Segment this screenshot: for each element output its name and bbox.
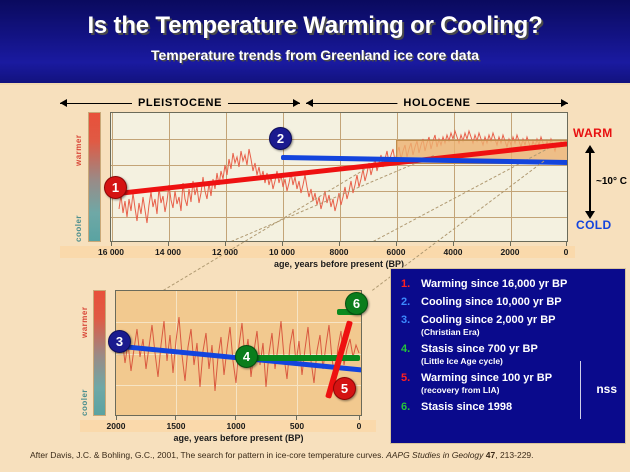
- upper-plot-area: [110, 112, 568, 242]
- legend-item-6[interactable]: 6. Stasis since 1998: [401, 401, 617, 414]
- legend-subtext: (recovery from LIA): [421, 385, 617, 396]
- warm-label: WARM: [573, 126, 613, 140]
- citation-pages: , 213-229.: [495, 450, 533, 460]
- legend-text: Stasis since 1998: [421, 401, 617, 414]
- legend-text: Warming since 16,000 yr BP: [421, 278, 617, 291]
- nss-bracket: [580, 361, 582, 419]
- citation: After Davis, J.C. & Bohling, G.C., 2001,…: [30, 450, 610, 460]
- ice-core-temperature-curve: [111, 113, 568, 242]
- legend-panel: 1. Warming since 16,000 yr BP 2. Cooling…: [390, 268, 626, 444]
- arrow-right-icon: [293, 99, 300, 107]
- gradient-warmer-label: warmer: [80, 290, 89, 338]
- arrow-left-icon: [306, 99, 313, 107]
- legend-number: 1.: [401, 278, 417, 290]
- legend-number: 5.: [401, 372, 417, 384]
- gradient-warmer-label: warmer: [74, 112, 83, 166]
- gradient-cooler-label: cooler: [74, 192, 83, 242]
- arrow-down-icon: [585, 211, 595, 219]
- citation-volume: 47: [483, 450, 495, 460]
- lower-axis-title: age, years before present (BP): [115, 433, 362, 443]
- epoch-pleistocene: PLEISTOCENE: [60, 94, 300, 114]
- page-title: Is the Temperature Warming or Cooling?: [0, 12, 630, 40]
- temperature-gradient-bar: [88, 112, 101, 242]
- temperature-gradient-bar: [93, 290, 106, 416]
- legend-item-5[interactable]: 5. Warming since 100 yr BP (recovery fro…: [401, 372, 617, 396]
- epoch-label: HOLOCENE: [397, 94, 476, 112]
- legend-text: Cooling since 2,000 yr BP: [421, 314, 617, 327]
- legend-subtext: (Little Ice Age cycle): [421, 356, 617, 367]
- gradient-cooler-label: cooler: [80, 372, 89, 416]
- legend-item-3[interactable]: 3. Cooling since 2,000 yr BP (Christian …: [401, 314, 617, 338]
- legend-number: 3.: [401, 314, 417, 326]
- marker-1[interactable]: 1: [104, 176, 127, 199]
- nss-label: nss: [596, 382, 617, 396]
- marker-5[interactable]: 5: [333, 377, 356, 400]
- citation-journal: AAPG Studies in Geology: [386, 450, 483, 460]
- legend-item-4[interactable]: 4. Stasis since 700 yr BP (Little Ice Ag…: [401, 343, 617, 367]
- cold-label: COLD: [576, 218, 612, 232]
- legend-text: Warming since 100 yr BP: [421, 372, 617, 385]
- scale-magnitude-label: ~10° C: [596, 176, 627, 187]
- epoch-arrow-bar: PLEISTOCENE HOLOCENE: [0, 94, 630, 114]
- citation-prefix: After Davis, J.C. & Bohling, G.C., 2001,…: [30, 450, 386, 460]
- legend-text: Cooling since 10,000 yr BP: [421, 296, 617, 309]
- marker-2[interactable]: 2: [269, 127, 292, 150]
- epoch-label: PLEISTOCENE: [132, 94, 228, 112]
- marker-3[interactable]: 3: [108, 330, 131, 353]
- legend-number: 6.: [401, 401, 417, 413]
- temperature-scale-arrow: [589, 152, 591, 212]
- title-banner: Is the Temperature Warming or Cooling? T…: [0, 0, 630, 85]
- legend-item-2[interactable]: 2. Cooling since 10,000 yr BP: [401, 296, 617, 309]
- arrow-right-icon: [561, 99, 568, 107]
- marker-6[interactable]: 6: [345, 292, 368, 315]
- legend-item-1[interactable]: 1. Warming since 16,000 yr BP: [401, 278, 617, 291]
- marker-4[interactable]: 4: [235, 345, 258, 368]
- upper-axis-band: [60, 246, 575, 258]
- page-subtitle: Temperature trends from Greenland ice co…: [0, 47, 630, 63]
- legend-number: 2.: [401, 296, 417, 308]
- legend-subtext: (Christian Era): [421, 327, 617, 338]
- arrow-up-icon: [585, 145, 595, 153]
- epoch-holocene: HOLOCENE: [306, 94, 568, 114]
- legend-number: 4.: [401, 343, 417, 355]
- arrow-left-icon: [60, 99, 67, 107]
- legend-text: Stasis since 700 yr BP: [421, 343, 617, 356]
